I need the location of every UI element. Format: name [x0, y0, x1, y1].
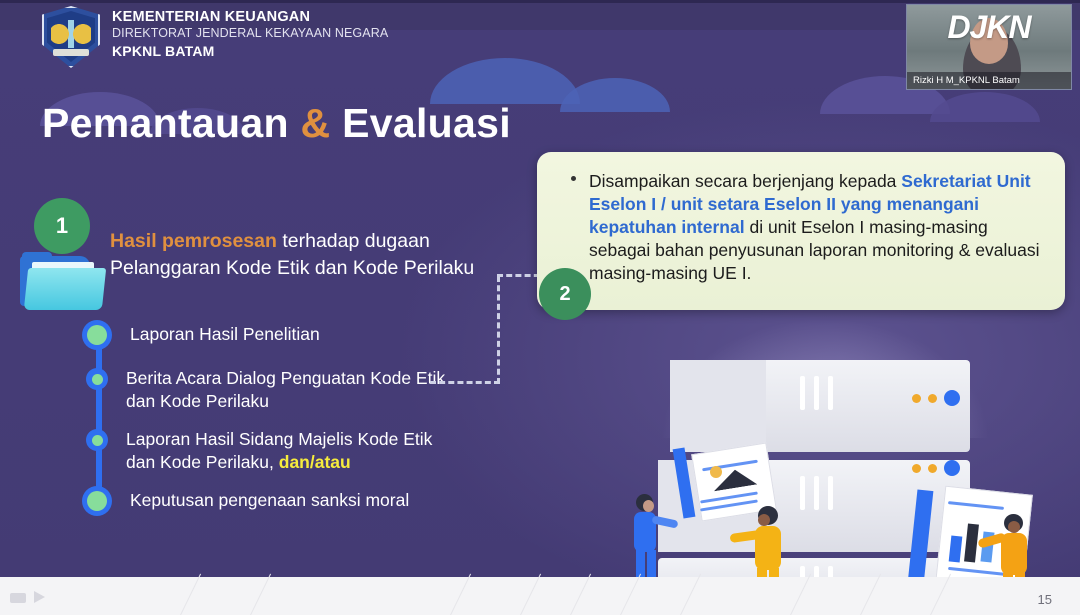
step-2-badge: 2 — [539, 268, 591, 320]
step-2-text: Disampaikan secara berjenjang kepada Sek… — [589, 170, 1045, 285]
header-branding: KEMENTERIAN KEUANGAN DIREKTORAT JENDERAL… — [42, 6, 388, 68]
server-led-orange — [928, 394, 937, 403]
bullet-icon — [571, 176, 576, 181]
server-led-blue — [944, 390, 960, 406]
server-vent — [800, 376, 805, 410]
list-item-label: Laporan Hasil Penelitian — [112, 320, 320, 346]
list-item: Berita Acara Dialog Penguatan Kode Etik … — [82, 364, 502, 413]
step-1-timeline: Laporan Hasil Penelitian Berita Acara Di… — [82, 320, 502, 532]
title-tail: Evaluasi — [342, 100, 511, 146]
title-main: Pemantauan — [42, 100, 289, 146]
step-1-lead-text: Hasil pemrosesan terhadap dugaan Pelangg… — [110, 228, 500, 282]
person-blue — [632, 494, 660, 590]
timeline-dot — [86, 368, 108, 390]
list-item: Laporan Hasil Sidang Majelis Kode Etik d… — [82, 425, 502, 474]
connector-dashed-vertical — [497, 276, 500, 384]
server-led-orange — [912, 394, 921, 403]
ministry-of-finance-seal-icon — [42, 6, 100, 68]
server-led-orange — [928, 464, 937, 473]
step-2-callout: Disampaikan secara berjenjang kepada Sek… — [537, 152, 1065, 310]
title-ampersand: & — [301, 100, 331, 146]
list-item: Laporan Hasil Penelitian — [82, 320, 502, 350]
list-item-label: Berita Acara Dialog Penguatan Kode Etik … — [108, 364, 456, 413]
org-line-3: KPKNL BATAM — [112, 44, 388, 60]
toolbar-icon — [10, 593, 26, 603]
step-1-badge: 1 — [34, 198, 90, 254]
list-item: Keputusan pengenaan sanksi moral — [82, 486, 502, 516]
step-2-text-part1: Disampaikan secara berjenjang kepada — [589, 171, 901, 191]
djkn-watermark: DJKN — [947, 9, 1030, 46]
timeline-dot — [82, 486, 112, 516]
server-led-blue — [944, 460, 960, 476]
server-vent — [814, 376, 819, 410]
list-item-highlight: dan/atau — [279, 452, 351, 472]
connector-dashed-bottom — [430, 381, 500, 384]
server-vent — [814, 476, 819, 510]
list-item-label: Keputusan pengenaan sanksi moral — [112, 486, 409, 512]
next-arrow-icon — [34, 591, 45, 603]
open-folder-icon — [20, 250, 106, 312]
org-line-1: KEMENTERIAN KEUANGAN — [112, 9, 388, 25]
org-line-2: DIREKTORAT JENDERAL KEKAYAAN NEGARA — [112, 26, 388, 40]
top-edge-line — [0, 0, 1080, 3]
left-screen-sun — [710, 466, 722, 478]
server-led-orange — [912, 464, 921, 473]
page-title: Pemantauan & Evaluasi — [42, 100, 511, 147]
server-vent — [828, 476, 833, 510]
participant-name-label: Rizki H M_KPKNL Batam — [907, 72, 1071, 89]
server-vent — [828, 376, 833, 410]
step-1-lead-highlight: Hasil pemrosesan — [110, 230, 277, 252]
data-center-servers-with-people-illustration — [600, 318, 1080, 615]
webcam-tile[interactable]: DJKN Rizki H M_KPKNL Batam — [906, 4, 1072, 90]
timeline-dot — [82, 320, 112, 350]
page-number: 15 — [1038, 592, 1052, 607]
presentation-slide: KEMENTERIAN KEUANGAN DIREKTORAT JENDERAL… — [0, 0, 1080, 615]
list-item-label: Laporan Hasil Sidang Majelis Kode Etik d… — [108, 425, 456, 474]
server-vent — [800, 476, 805, 510]
ground-strip — [0, 577, 1080, 615]
server-shade — [670, 360, 766, 452]
timeline-dot — [86, 429, 108, 451]
